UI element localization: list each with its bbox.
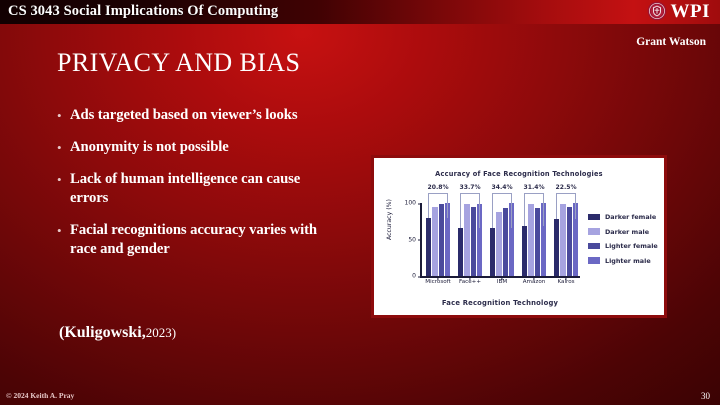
chart-legend-swatch — [588, 243, 600, 250]
chart-x-tick-label: Amazon — [523, 279, 546, 285]
wpi-logo: WPI — [647, 1, 711, 21]
chart-y-tick: 100 — [405, 200, 420, 207]
bullet-text: Lack of human intelligence can cause err… — [70, 170, 342, 208]
slide-title: PRIVACY AND BIAS — [57, 48, 300, 78]
chart-figure: Accuracy of Face Recognition Technologie… — [371, 155, 667, 318]
chart-legend-label: Lighter male — [605, 257, 651, 265]
chart-gap-bracket — [428, 193, 447, 218]
chart-y-tick: 50 — [408, 236, 420, 243]
bullet-list: • Ads targeted based on viewer’s looks •… — [57, 106, 342, 272]
chart-gap-label: 34.4% — [491, 184, 512, 191]
chart-title: Accuracy of Face Recognition Technologie… — [374, 170, 664, 178]
citation-year: 2023) — [146, 325, 176, 340]
bullet-marker-icon: • — [57, 106, 70, 125]
wpi-wordmark: WPI — [671, 2, 711, 21]
chart-legend-label: Darker female — [605, 213, 656, 221]
chart-bar — [490, 228, 495, 276]
chart-legend-label: Lighter female — [605, 242, 658, 250]
chart-legend-item: Darker female — [588, 213, 658, 221]
chart-legend-item: Darker male — [588, 228, 658, 236]
chart-x-axis — [420, 276, 580, 278]
chart-gap-bracket — [460, 193, 479, 228]
bullet-text: Anonymity is not possible — [70, 138, 229, 157]
chart-gap-label: 22.5% — [555, 184, 576, 191]
chart-x-axis-label: Face Recognition Technology — [420, 299, 580, 307]
list-item: • Ads targeted based on viewer’s looks — [57, 106, 342, 125]
chart-y-tick: 0 — [412, 273, 420, 280]
bullet-marker-icon: • — [57, 138, 70, 157]
chart-x-tick-label: Face++ — [459, 279, 481, 285]
chart-legend: Darker femaleDarker maleLighter femaleLi… — [588, 213, 658, 271]
chart-legend-swatch — [588, 214, 600, 221]
chart-gap-label: 33.7% — [459, 184, 480, 191]
list-item: • Lack of human intelligence can cause e… — [57, 170, 342, 208]
citation-author: (Kuligowski, — [59, 324, 146, 341]
chart-x-tick-label: Kairos — [557, 279, 574, 285]
chart-gap-label: 31.4% — [523, 184, 544, 191]
bullet-marker-icon: • — [57, 221, 70, 240]
bullet-marker-icon: • — [57, 170, 70, 189]
chart-bar — [522, 226, 527, 276]
chart-legend-item: Lighter male — [588, 257, 658, 265]
page-number: 30 — [701, 391, 710, 401]
chart-plot-area: 050100Microsoft20.8%Face++33.7%IBM34.4%A… — [420, 203, 580, 276]
chart-gap-bracket — [524, 193, 543, 226]
chart-legend-label: Darker male — [605, 228, 649, 236]
presentation-slide: CS 3043 Social Implications Of Computing… — [0, 0, 720, 405]
footer-copyright: © 2024 Keith A. Pray — [6, 391, 74, 400]
chart-gap-bracket — [556, 193, 575, 219]
chart-x-tick-label: Microsoft — [425, 279, 450, 285]
bullet-text: Facial recognitions accuracy varies with… — [70, 221, 342, 259]
chart-bar — [554, 219, 559, 276]
chart-x-tick-label: IBM — [497, 279, 507, 285]
chart-y-axis-label: Accuracy (%) — [386, 199, 393, 240]
chart-bar — [458, 228, 463, 276]
chart-legend-swatch — [588, 257, 600, 264]
chart-legend-item: Lighter female — [588, 242, 658, 250]
chart-gap-label: 20.8% — [427, 184, 448, 191]
list-item: • Anonymity is not possible — [57, 138, 342, 157]
presenter-name: Grant Watson — [636, 36, 706, 48]
bullet-text: Ads targeted based on viewer’s looks — [70, 106, 297, 125]
chart-bar — [426, 218, 431, 276]
citation: (Kuligowski,2023) — [59, 324, 176, 342]
wpi-seal-icon — [647, 1, 667, 21]
list-item: • Facial recognitions accuracy varies wi… — [57, 221, 342, 259]
chart-legend-swatch — [588, 228, 600, 235]
chart-gap-bracket — [492, 193, 511, 228]
course-title: CS 3043 Social Implications Of Computing — [8, 3, 278, 20]
